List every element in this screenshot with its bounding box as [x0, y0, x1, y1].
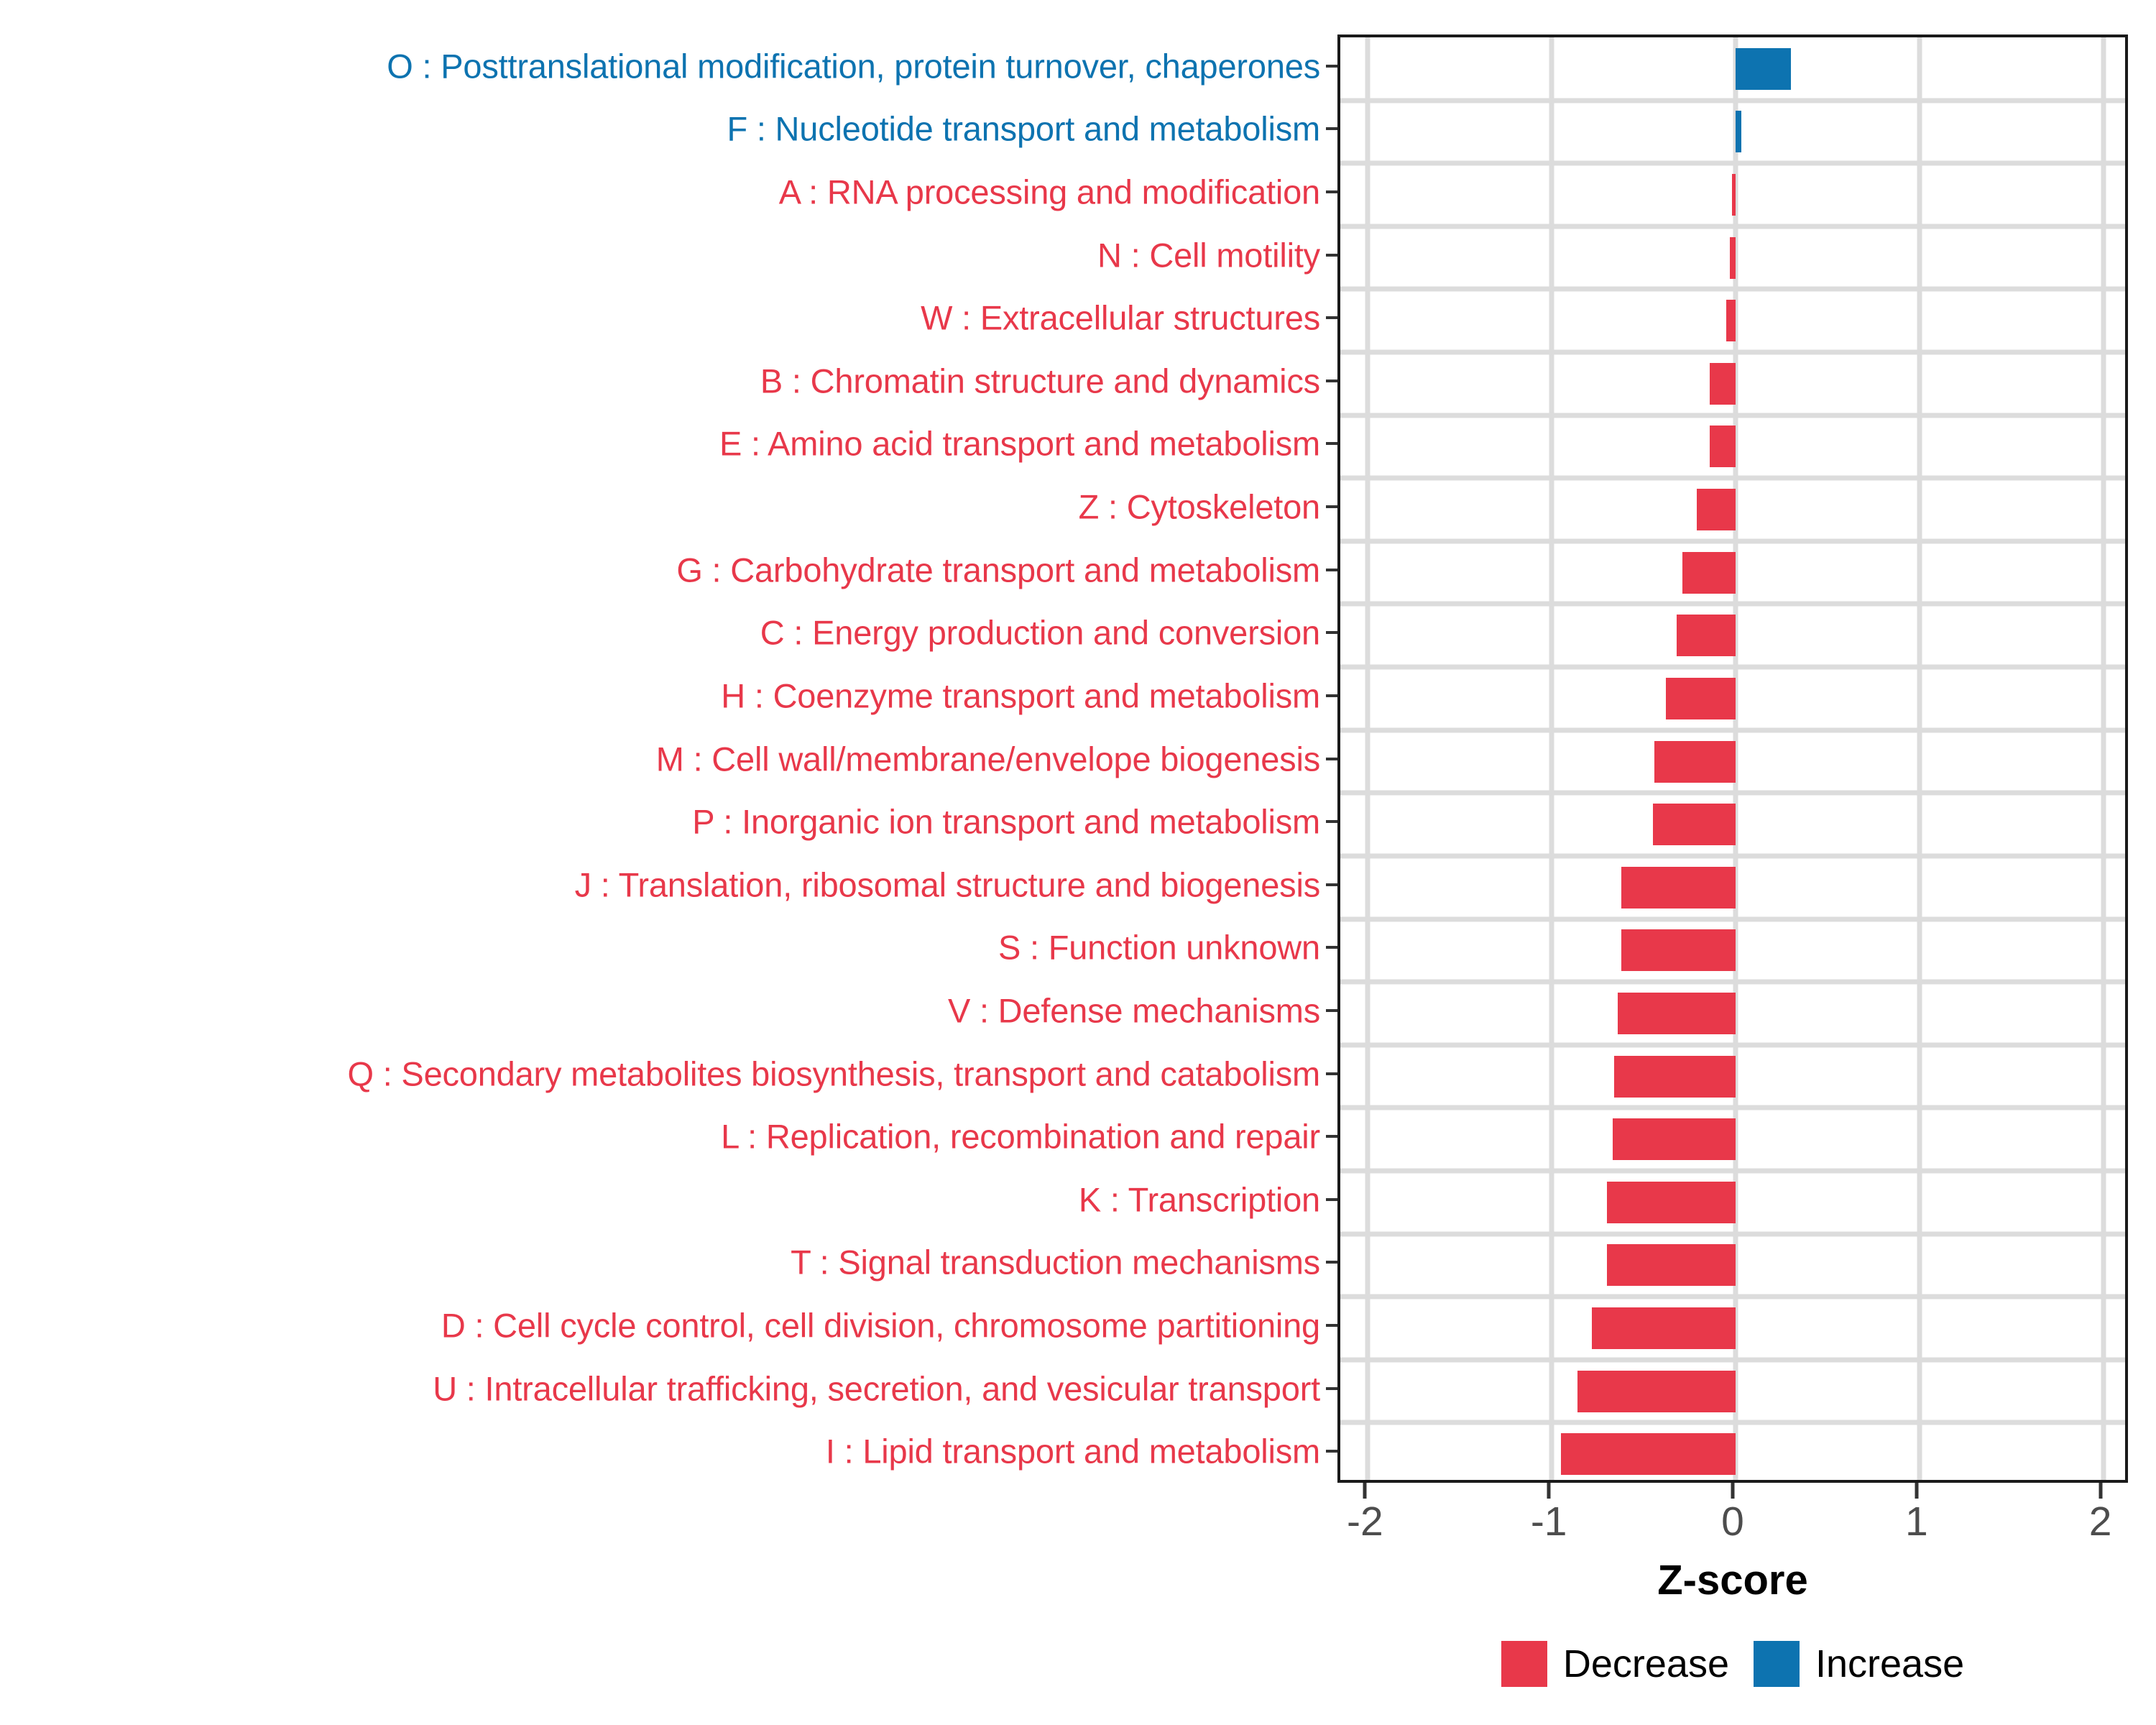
bar	[1613, 1118, 1736, 1160]
vertical-gridline	[1917, 37, 1922, 1480]
category-label: H : Coenzyme transport and metabolism	[721, 678, 1320, 712]
bar	[1592, 1307, 1736, 1349]
bar	[1666, 678, 1736, 719]
bar	[1607, 1182, 1736, 1223]
category-tick-mark	[1326, 1387, 1337, 1390]
category-label: F : Nucleotide transport and metabolism	[727, 112, 1320, 146]
legend-item-increase[interactable]: Increase	[1754, 1641, 1964, 1687]
bar	[1677, 615, 1736, 656]
category-label: V : Defense mechanisms	[948, 993, 1320, 1027]
category-label: J : Translation, ribosomal structure and…	[575, 868, 1320, 901]
category-label: W : Extracellular structures	[921, 301, 1320, 335]
plot-panel	[1337, 34, 2128, 1483]
category-label: S : Function unknown	[998, 931, 1320, 965]
bar	[1561, 1433, 1736, 1475]
bar	[1732, 174, 1736, 216]
x-tick-label: -1	[1531, 1501, 1567, 1542]
legend: DecreaseIncrease	[1337, 1632, 2128, 1696]
x-tick-mark	[1363, 1483, 1367, 1499]
category-label: N : Cell motility	[1097, 238, 1320, 272]
category-label: D : Cell cycle control, cell division, c…	[441, 1308, 1320, 1342]
category-tick-mark	[1326, 379, 1337, 382]
bar	[1621, 929, 1736, 971]
bar	[1730, 237, 1736, 279]
category-tick-mark	[1326, 1450, 1337, 1453]
legend-swatch	[1754, 1641, 1800, 1687]
category-tick-mark	[1326, 1198, 1337, 1201]
category-tick-mark	[1326, 1009, 1337, 1012]
vertical-gridline	[1549, 37, 1554, 1480]
category-tick-mark	[1326, 127, 1337, 130]
bar	[1682, 552, 1736, 594]
category-label: C : Energy production and conversion	[760, 616, 1320, 650]
bar	[1710, 363, 1736, 405]
category-tick-mark	[1326, 1135, 1337, 1138]
category-tick-mark	[1326, 254, 1337, 257]
x-tick-label: 0	[1721, 1501, 1744, 1542]
bar	[1607, 1244, 1736, 1286]
bar	[1654, 741, 1736, 783]
x-tick-label: -2	[1347, 1501, 1383, 1542]
category-label: I : Lipid transport and metabolism	[826, 1435, 1320, 1468]
category-tick-mark	[1326, 1324, 1337, 1327]
bar	[1736, 48, 1791, 90]
category-label: K : Transcription	[1079, 1182, 1320, 1216]
vertical-gridline	[1365, 37, 1370, 1480]
x-tick-label: 2	[2089, 1501, 2112, 1542]
category-tick-mark	[1326, 190, 1337, 193]
category-label: P : Inorganic ion transport and metaboli…	[692, 805, 1320, 839]
bar	[1618, 993, 1736, 1034]
bar	[1577, 1371, 1736, 1412]
x-tick-mark	[1915, 1483, 1918, 1499]
category-tick-mark	[1326, 694, 1337, 697]
category-axis-labels: O : Posttranslational modification, prot…	[0, 34, 1333, 1483]
x-tick-mark	[2099, 1483, 2102, 1499]
category-label: M : Cell wall/membrane/envelope biogenes…	[656, 742, 1320, 776]
legend-label: Increase	[1815, 1644, 1964, 1683]
category-tick-mark	[1326, 946, 1337, 949]
category-tick-mark	[1326, 442, 1337, 445]
x-tick-mark	[1731, 1483, 1735, 1499]
category-label: G : Carbohydrate transport and metabolis…	[676, 553, 1320, 586]
category-tick-mark	[1326, 569, 1337, 571]
category-tick-mark	[1326, 1072, 1337, 1075]
category-tick-mark	[1326, 883, 1337, 886]
legend-label: Decrease	[1563, 1644, 1729, 1683]
category-label: B : Chromatin structure and dynamics	[760, 364, 1320, 397]
category-tick-mark	[1326, 1261, 1337, 1264]
x-tick-label: 1	[1905, 1501, 1928, 1542]
category-label: A : RNA processing and modification	[779, 175, 1320, 209]
category-tick-mark	[1326, 820, 1337, 823]
category-tick-mark	[1326, 758, 1337, 760]
bar	[1697, 489, 1736, 530]
bar	[1736, 111, 1741, 152]
bar	[1653, 804, 1736, 845]
category-label: T : Signal transduction mechanisms	[791, 1246, 1320, 1279]
category-tick-mark	[1326, 65, 1337, 68]
bar	[1621, 867, 1736, 908]
category-label: U : Intracellular trafficking, secretion…	[433, 1371, 1320, 1405]
category-label: O : Posttranslational modification, prot…	[387, 49, 1320, 83]
x-axis-title: Z-score	[1337, 1556, 2128, 1604]
legend-swatch	[1501, 1641, 1547, 1687]
bar	[1726, 300, 1736, 341]
legend-item-decrease[interactable]: Decrease	[1501, 1641, 1729, 1687]
category-tick-mark	[1326, 631, 1337, 634]
category-tick-mark	[1326, 505, 1337, 508]
chart-page: O : Posttranslational modification, prot…	[0, 0, 2156, 1725]
category-label: L : Replication, recombination and repai…	[721, 1120, 1320, 1154]
category-label: Q : Secondary metabolites biosynthesis, …	[347, 1057, 1320, 1090]
x-tick-mark	[1547, 1483, 1551, 1499]
category-label: E : Amino acid transport and metabolism	[719, 427, 1320, 461]
bar	[1614, 1056, 1736, 1098]
category-label: Z : Cytoskeleton	[1079, 490, 1320, 524]
category-tick-mark	[1326, 316, 1337, 319]
bar	[1710, 425, 1736, 467]
vertical-gridline	[2101, 37, 2106, 1480]
